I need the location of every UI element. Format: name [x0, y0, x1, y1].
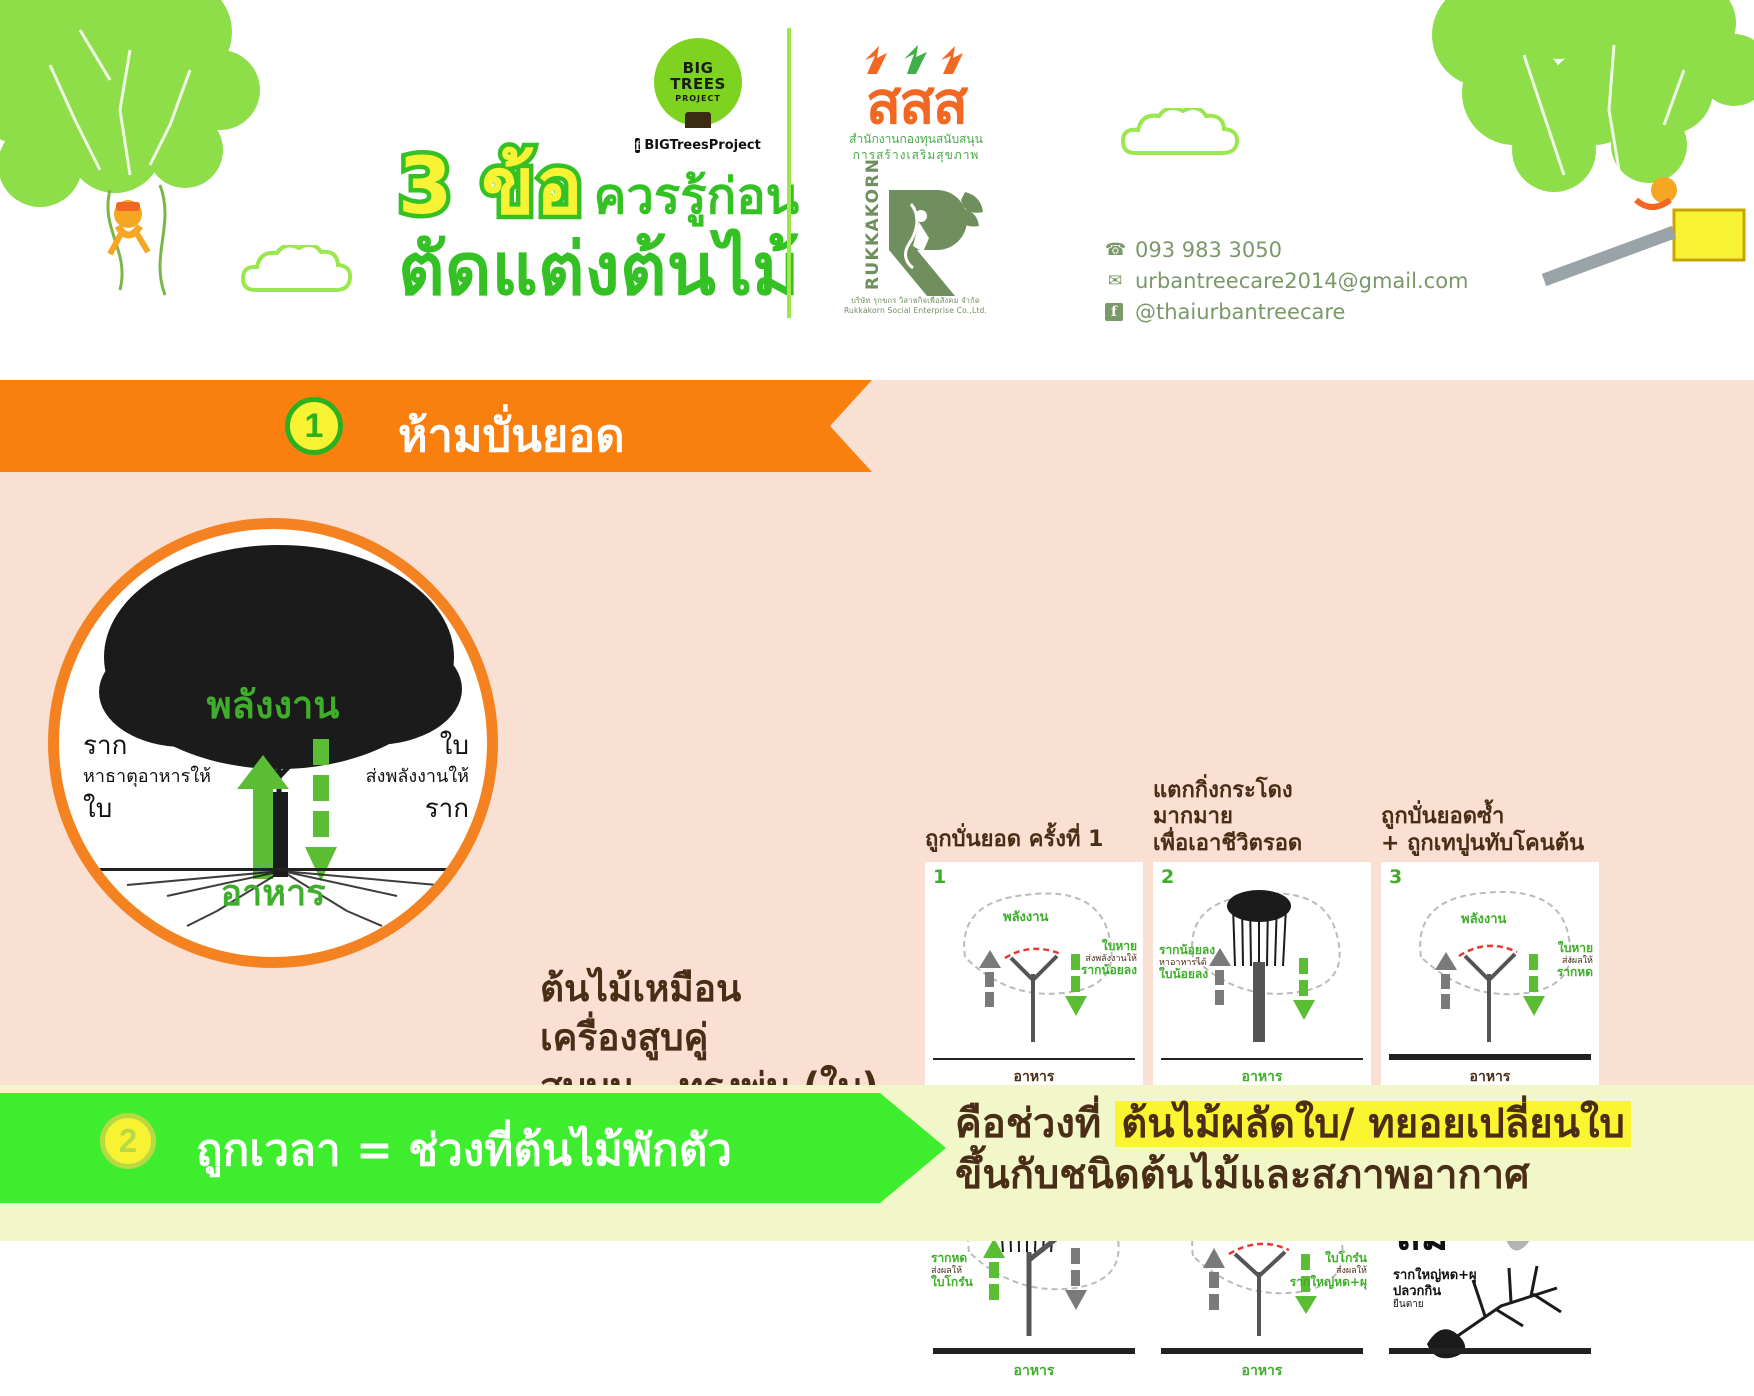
- diagram-root-target: ใบ: [83, 788, 233, 829]
- contact-email: urbantreecare2014@gmail.com: [1135, 269, 1469, 293]
- panel-food-label: อาหาร: [1242, 1360, 1283, 1382]
- section-2-number: 2: [100, 1113, 156, 1169]
- body-line-1: ต้นไม้เหมือน: [540, 965, 878, 1014]
- contact-facebook-row[interactable]: f @thaiurbantreecare: [1105, 300, 1469, 324]
- panel-stage-3: 3 พลังงาน ใบหาย ส่งผลให้ รากหด: [1381, 862, 1599, 1102]
- diagram-leaf-target: ราก: [309, 788, 469, 829]
- diagram-leaf-sub: ส่งพลังงานให้: [309, 766, 469, 788]
- section-2: 2 ถูกเวลา = ช่วงที่ต้นไม้พักตัว คือช่วงท…: [0, 1085, 1754, 1241]
- panel-ground-line: [1389, 1054, 1591, 1060]
- panel-ground-line: [1161, 1058, 1363, 1060]
- section-1-band-arrow: [830, 380, 872, 472]
- panel-note-head: รากน้อยลง: [1159, 943, 1215, 957]
- section-1-number: 1: [285, 397, 343, 455]
- contact-phone: 093 983 3050: [1135, 238, 1282, 262]
- body-line-2: เครื่องสูบคู่: [540, 1014, 878, 1063]
- panel-note-head: รากหด: [931, 1251, 967, 1265]
- header-divider: [787, 28, 791, 318]
- rukkakorn-caption-english: Rukkakorn Social Enterprise Co.,Ltd.: [828, 306, 1003, 316]
- contact-phone-row[interactable]: ☎ 093 983 3050: [1105, 238, 1469, 262]
- tree-stump-icon: [685, 112, 711, 128]
- title-suffix: ควรรู้ก่อน: [594, 168, 800, 225]
- section-1: 1 ห้ามบั่นยอด พลังงาน: [0, 380, 1754, 1085]
- panel-note-head: ใบโกร๋น: [1325, 1251, 1367, 1265]
- panel-ground-line: [1389, 1348, 1591, 1354]
- panel-energy-label: พลังงาน: [1003, 906, 1048, 927]
- panel-note-head: ใบหาย: [1558, 941, 1593, 955]
- title-line2: ตัดแต่งต้นไม้: [398, 232, 868, 308]
- page-title: 3 ข้อควรรู้ก่อน ตัดแต่งต้นไม้: [398, 148, 868, 308]
- envelope-icon: ✉: [1105, 271, 1125, 291]
- title-number: 3 ข้อ: [398, 142, 584, 232]
- contact-facebook: @thaiurbantreecare: [1135, 300, 1345, 324]
- panel-note: ใบหาย ส่งพลังงานให้ รากน้อยลง: [1081, 940, 1137, 978]
- diagram-root-sub: หาธาตุอาหารให้: [83, 766, 233, 788]
- panel-note: รากน้อยลง หาอาหารได้ ใบน้อยลง: [1159, 944, 1215, 982]
- section-2-right-text: คือช่วงที่ ต้นไม้ผลัดใบ/ ทยอยเปลี่ยนใบ ข…: [955, 1099, 1631, 1201]
- panel-number: 2: [1161, 866, 1174, 888]
- rukkakorn-logo: RUKKAKORN บริษัท รุกขกร วิสาหกิจเพื่อสัง…: [828, 186, 1003, 316]
- panel-fall-line2: ปลวกกิน: [1393, 1284, 1477, 1300]
- rukkakorn-vertical-text: RUKKAKORN: [863, 158, 883, 290]
- panel-captions-top: ถูกบั่นยอด ครั้งที่ 1 แตกกิ่งกระโดงมากมา…: [925, 786, 1730, 858]
- cloud-decoration: [1120, 108, 1280, 168]
- diagram-leaf-head: ใบ: [309, 725, 469, 766]
- section-2-band-arrow: [880, 1093, 946, 1203]
- panel-stage-2: 2 รากน้อยลง หาอาหารได้ ใบ: [1153, 862, 1371, 1102]
- panel-note-tail: รากใหญ่หด+ผุ: [1290, 1275, 1367, 1289]
- section-2-line1-highlight: ต้นไม้ผลัดใบ/ ทยอยเปลี่ยนใบ: [1115, 1101, 1631, 1147]
- facebook-icon: f: [1105, 303, 1123, 321]
- panel-caption-2: แตกกิ่งกระโดงมากมาย เพื่อเอาชีวิตรอด: [1153, 778, 1371, 858]
- panel-fall-line3: ยืนตาย: [1393, 1299, 1477, 1311]
- panel-number: 3: [1389, 866, 1402, 888]
- panel-note: ใบโกร๋น ส่งผลให้ รากใหญ่หด+ผุ: [1290, 1252, 1367, 1290]
- thaihealth-wordmark: สสส: [836, 76, 996, 131]
- panel-fall-note: รากใหญ่หด+ผุ ปลวกกิน ยืนตาย: [1393, 1268, 1477, 1311]
- contact-block: ☎ 093 983 3050 ✉ urbantreecare2014@gmail…: [1105, 238, 1469, 331]
- section-2-line-2: ขึ้นกับชนิดต้นไม้และสภาพอากาศ: [955, 1150, 1631, 1201]
- section-1-title: ห้ามบั่นยอด: [398, 399, 625, 471]
- panel-note: ใบหาย ส่งผลให้ รากหด: [1557, 942, 1593, 980]
- thaihealth-logo: สสส สำนักงานกองทุนสนับสนุน การสร้างเสริม…: [836, 42, 996, 163]
- diagram-food-label: อาหาร: [220, 864, 325, 921]
- diagram-root-head: ราก: [83, 725, 233, 766]
- cloud-decoration: [240, 245, 380, 305]
- panel-stage-1: 1 พลังงาน ใบหาย ส่งพลังงานให้ รากน้อยลง: [925, 862, 1143, 1102]
- phone-icon: ☎: [1105, 240, 1125, 260]
- panel-ground-line: [933, 1348, 1135, 1354]
- panel-note-tail: ใบโกร๋น: [931, 1275, 973, 1289]
- tree-pump-diagram: พลังงาน: [48, 518, 498, 968]
- panels-row-top: 1 พลังงาน ใบหาย ส่งพลังงานให้ รากน้อยลง: [925, 862, 1730, 1102]
- diagram-leaf-label-group: ใบ ส่งพลังงานให้ ราก: [309, 725, 469, 829]
- bigtrees-badge: BIG TREES PROJECT: [654, 38, 742, 126]
- panel-food-label: อาหาร: [1014, 1360, 1055, 1382]
- bigtrees-logo: BIG TREES PROJECT f BIGTreesProject: [650, 38, 746, 153]
- panel-note-head: ใบหาย: [1102, 939, 1137, 953]
- panel-fall-line1: รากใหญ่หด+ผุ: [1393, 1268, 1477, 1283]
- section-2-line-1: คือช่วงที่ ต้นไม้ผลัดใบ/ ทยอยเปลี่ยนใบ: [955, 1099, 1631, 1150]
- rukkakorn-mark: RUKKAKORN: [841, 186, 991, 296]
- bigtrees-line2: TREES: [670, 77, 726, 93]
- header-section: BIG TREES PROJECT f BIGTreesProject 3 ข้…: [0, 0, 1754, 380]
- panel-caption-1: ถูกบั่นยอด ครั้งที่ 1: [925, 827, 1143, 858]
- rukkakorn-caption-thai: บริษัท รุกขกร วิสาหกิจเพื่อสังคม จำกัด: [828, 296, 1003, 306]
- section-2-title: ถูกเวลา = ช่วงที่ต้นไม้พักตัว: [196, 1115, 732, 1185]
- panel-ground-line: [1161, 1348, 1363, 1354]
- thaihealth-sub1: สำนักงานกองทุนสนับสนุน: [836, 132, 996, 148]
- panel-energy-label: พลังงาน: [1461, 908, 1506, 929]
- panel-note: รากหด ส่งผลให้ ใบโกร๋น: [931, 1252, 973, 1290]
- panel-note-tail: รากน้อยลง: [1081, 963, 1137, 977]
- panel-note-tail: รากหด: [1557, 965, 1593, 979]
- thaihealth-sub2: การสร้างเสริมสุขภาพ: [836, 148, 996, 164]
- panel-note-tail: ใบน้อยลง: [1159, 967, 1208, 981]
- infographic-root: BIG TREES PROJECT f BIGTreesProject 3 ข้…: [0, 0, 1754, 1241]
- contact-email-row[interactable]: ✉ urbantreecare2014@gmail.com: [1105, 269, 1469, 293]
- rukkakorn-r-symbol: [881, 186, 991, 296]
- diagram-root-label-group: ราก หาธาตุอาหารให้ ใบ: [83, 725, 233, 829]
- panel-number: 1: [933, 866, 946, 888]
- section-2-line1-prefix: คือช่วงที่: [955, 1101, 1115, 1147]
- panel-ground-line: [933, 1058, 1135, 1060]
- bucket-truck-illustration: [1524, 170, 1754, 310]
- bigtrees-line3: PROJECT: [675, 94, 721, 103]
- panel-caption-3: ถูกบั่นยอดซ้ำ + ถูกเทปูนทับโคนต้น: [1381, 804, 1599, 858]
